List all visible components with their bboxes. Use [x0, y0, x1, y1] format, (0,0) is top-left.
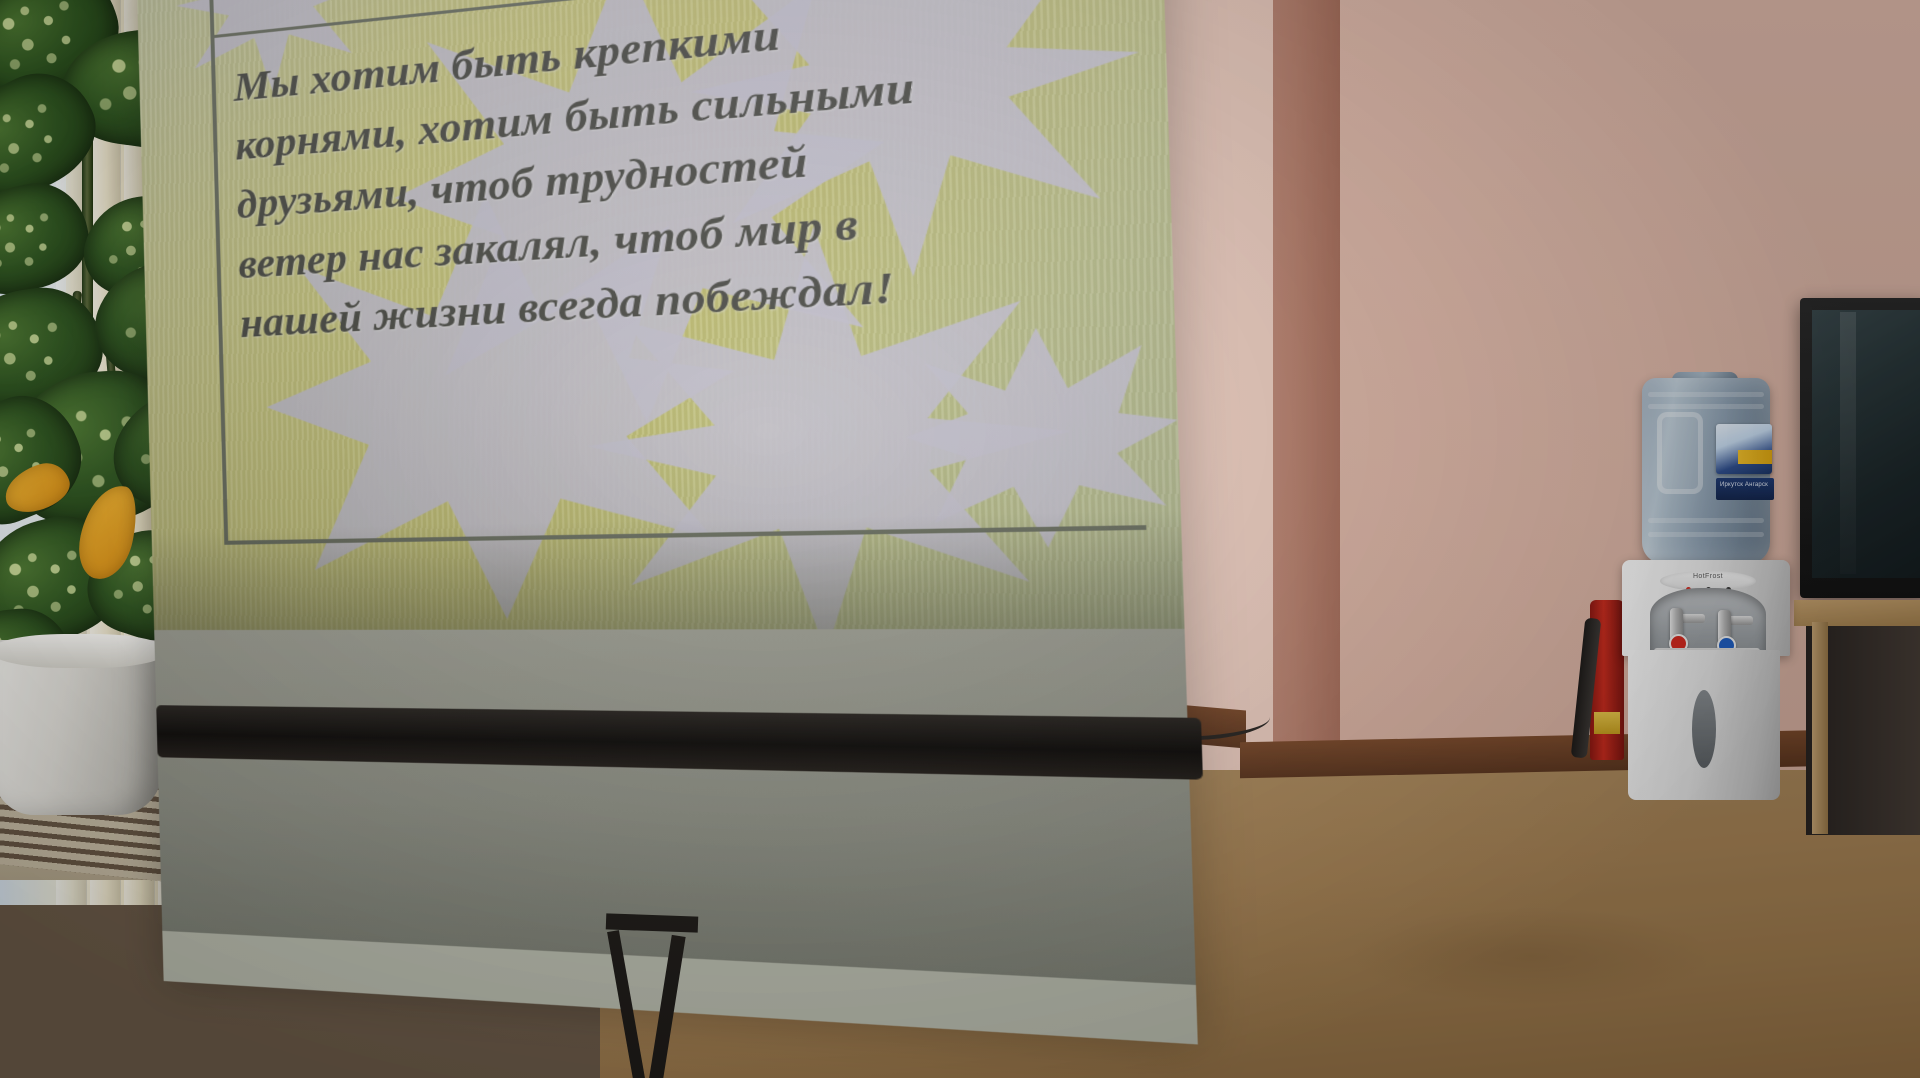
- fire-extinguisher-label: [1594, 712, 1620, 734]
- projection-screen[interactable]: Мы хотим быть крепкими корнями, хотим бы…: [136, 0, 1197, 1044]
- water-bottle-label-banner: [1738, 450, 1772, 464]
- projected-slide: Мы хотим быть крепкими корнями, хотим бы…: [136, 0, 1185, 664]
- television-screen-glare: [1840, 312, 1856, 574]
- screen-tripod-hub: [606, 913, 699, 932]
- water-bottle-handle: [1657, 412, 1703, 494]
- room-photo: Иркутск Ангарск HotFrost: [0, 0, 1920, 1078]
- slide-lighting-overlay: [136, 0, 1185, 664]
- water-bottle-label-city-text: Иркутск Ангарск: [1720, 481, 1768, 489]
- water-cooler-cabinet-handle[interactable]: [1692, 690, 1716, 768]
- water-bottle-label: [1716, 424, 1772, 474]
- plant-pot-rim: [0, 634, 168, 668]
- water-cooler-brand-text: HotFrost: [1660, 573, 1756, 580]
- table-leg: [1812, 622, 1828, 834]
- television-screen[interactable]: [1812, 310, 1920, 578]
